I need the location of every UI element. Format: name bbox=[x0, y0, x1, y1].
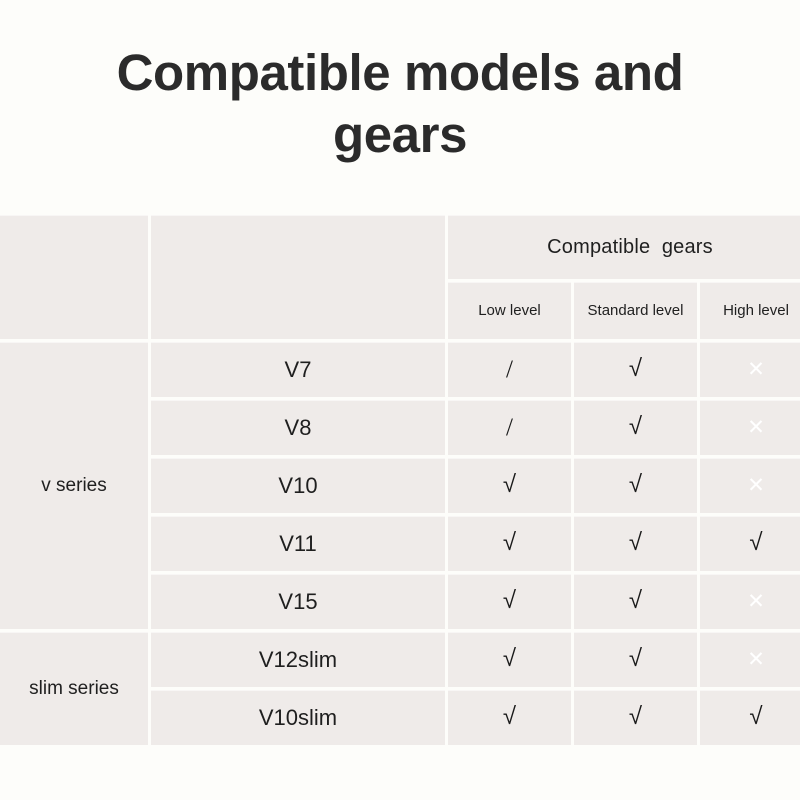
check-icon: √ bbox=[629, 704, 642, 728]
cross-icon: ✕ bbox=[747, 417, 765, 438]
gear-low-cell: √ bbox=[448, 632, 571, 687]
check-icon: √ bbox=[749, 704, 762, 728]
page-title-line-2: gears bbox=[60, 104, 740, 166]
compatibility-table-container: Compatible gears Low level Standard leve… bbox=[0, 215, 800, 725]
series-label-cell: v series bbox=[0, 342, 148, 629]
model-name-cell: V15 bbox=[151, 574, 445, 629]
cross-icon: ✕ bbox=[747, 591, 765, 612]
gear-standard-cell: √ bbox=[574, 632, 697, 687]
header-high-level: High level bbox=[700, 282, 800, 339]
page-title-line-1: Compatible models and bbox=[60, 42, 740, 104]
gear-high-cell: ✕ bbox=[700, 632, 800, 687]
gear-high-cell: ✕ bbox=[700, 400, 800, 455]
header-series-blank bbox=[0, 215, 148, 339]
check-icon: √ bbox=[503, 704, 516, 728]
check-icon: √ bbox=[749, 530, 762, 554]
gear-low-cell: √ bbox=[448, 458, 571, 513]
gear-standard-cell: √ bbox=[574, 342, 697, 397]
gear-high-cell: √ bbox=[700, 516, 800, 571]
check-icon: √ bbox=[629, 356, 642, 380]
check-icon: √ bbox=[629, 588, 642, 612]
table-header-row-group: Compatible gears bbox=[0, 215, 800, 279]
header-compatible-gears: Compatible gears bbox=[448, 215, 800, 279]
gear-standard-cell: √ bbox=[574, 458, 697, 513]
gear-low-cell: √ bbox=[448, 516, 571, 571]
cross-icon: ✕ bbox=[747, 475, 765, 496]
gear-low-cell: √ bbox=[448, 690, 571, 745]
check-icon: √ bbox=[629, 646, 642, 670]
compatibility-page: Compatible models and gears Compatible g… bbox=[0, 0, 800, 800]
gear-high-cell: ✕ bbox=[700, 342, 800, 397]
header-low-level: Low level bbox=[448, 282, 571, 339]
gear-standard-cell: √ bbox=[574, 574, 697, 629]
gear-standard-cell: √ bbox=[574, 690, 697, 745]
gear-low-cell: √ bbox=[448, 574, 571, 629]
model-name-cell: V7 bbox=[151, 342, 445, 397]
gear-high-cell: √ bbox=[700, 690, 800, 745]
slash-icon: / bbox=[506, 415, 513, 440]
table-row: slim seriesV12slim√√✕ bbox=[0, 632, 800, 687]
model-name-cell: V12slim bbox=[151, 632, 445, 687]
gear-standard-cell: √ bbox=[574, 400, 697, 455]
model-name-cell: V10slim bbox=[151, 690, 445, 745]
compatibility-table: Compatible gears Low level Standard leve… bbox=[0, 212, 800, 748]
gear-low-cell: / bbox=[448, 400, 571, 455]
series-label-cell: slim series bbox=[0, 632, 148, 745]
check-icon: √ bbox=[503, 588, 516, 612]
header-model-blank bbox=[151, 215, 445, 339]
table-body: v seriesV7/√✕V8/√✕V10√√✕V11√√√V15√√✕slim… bbox=[0, 342, 800, 745]
model-name-cell: V11 bbox=[151, 516, 445, 571]
gear-high-cell: ✕ bbox=[700, 458, 800, 513]
slash-icon: / bbox=[506, 357, 513, 382]
gear-high-cell: ✕ bbox=[700, 574, 800, 629]
check-icon: √ bbox=[503, 646, 516, 670]
cross-icon: ✕ bbox=[747, 359, 765, 380]
check-icon: √ bbox=[503, 472, 516, 496]
model-name-cell: V10 bbox=[151, 458, 445, 513]
table-header: Compatible gears Low level Standard leve… bbox=[0, 215, 800, 339]
check-icon: √ bbox=[503, 530, 516, 554]
check-icon: √ bbox=[629, 414, 642, 438]
gear-standard-cell: √ bbox=[574, 516, 697, 571]
table-row: v seriesV7/√✕ bbox=[0, 342, 800, 397]
model-name-cell: V8 bbox=[151, 400, 445, 455]
check-icon: √ bbox=[629, 472, 642, 496]
header-standard-level: Standard level bbox=[574, 282, 697, 339]
check-icon: √ bbox=[629, 530, 642, 554]
page-title: Compatible models and gears bbox=[0, 0, 800, 166]
cross-icon: ✕ bbox=[747, 649, 765, 670]
gear-low-cell: / bbox=[448, 342, 571, 397]
